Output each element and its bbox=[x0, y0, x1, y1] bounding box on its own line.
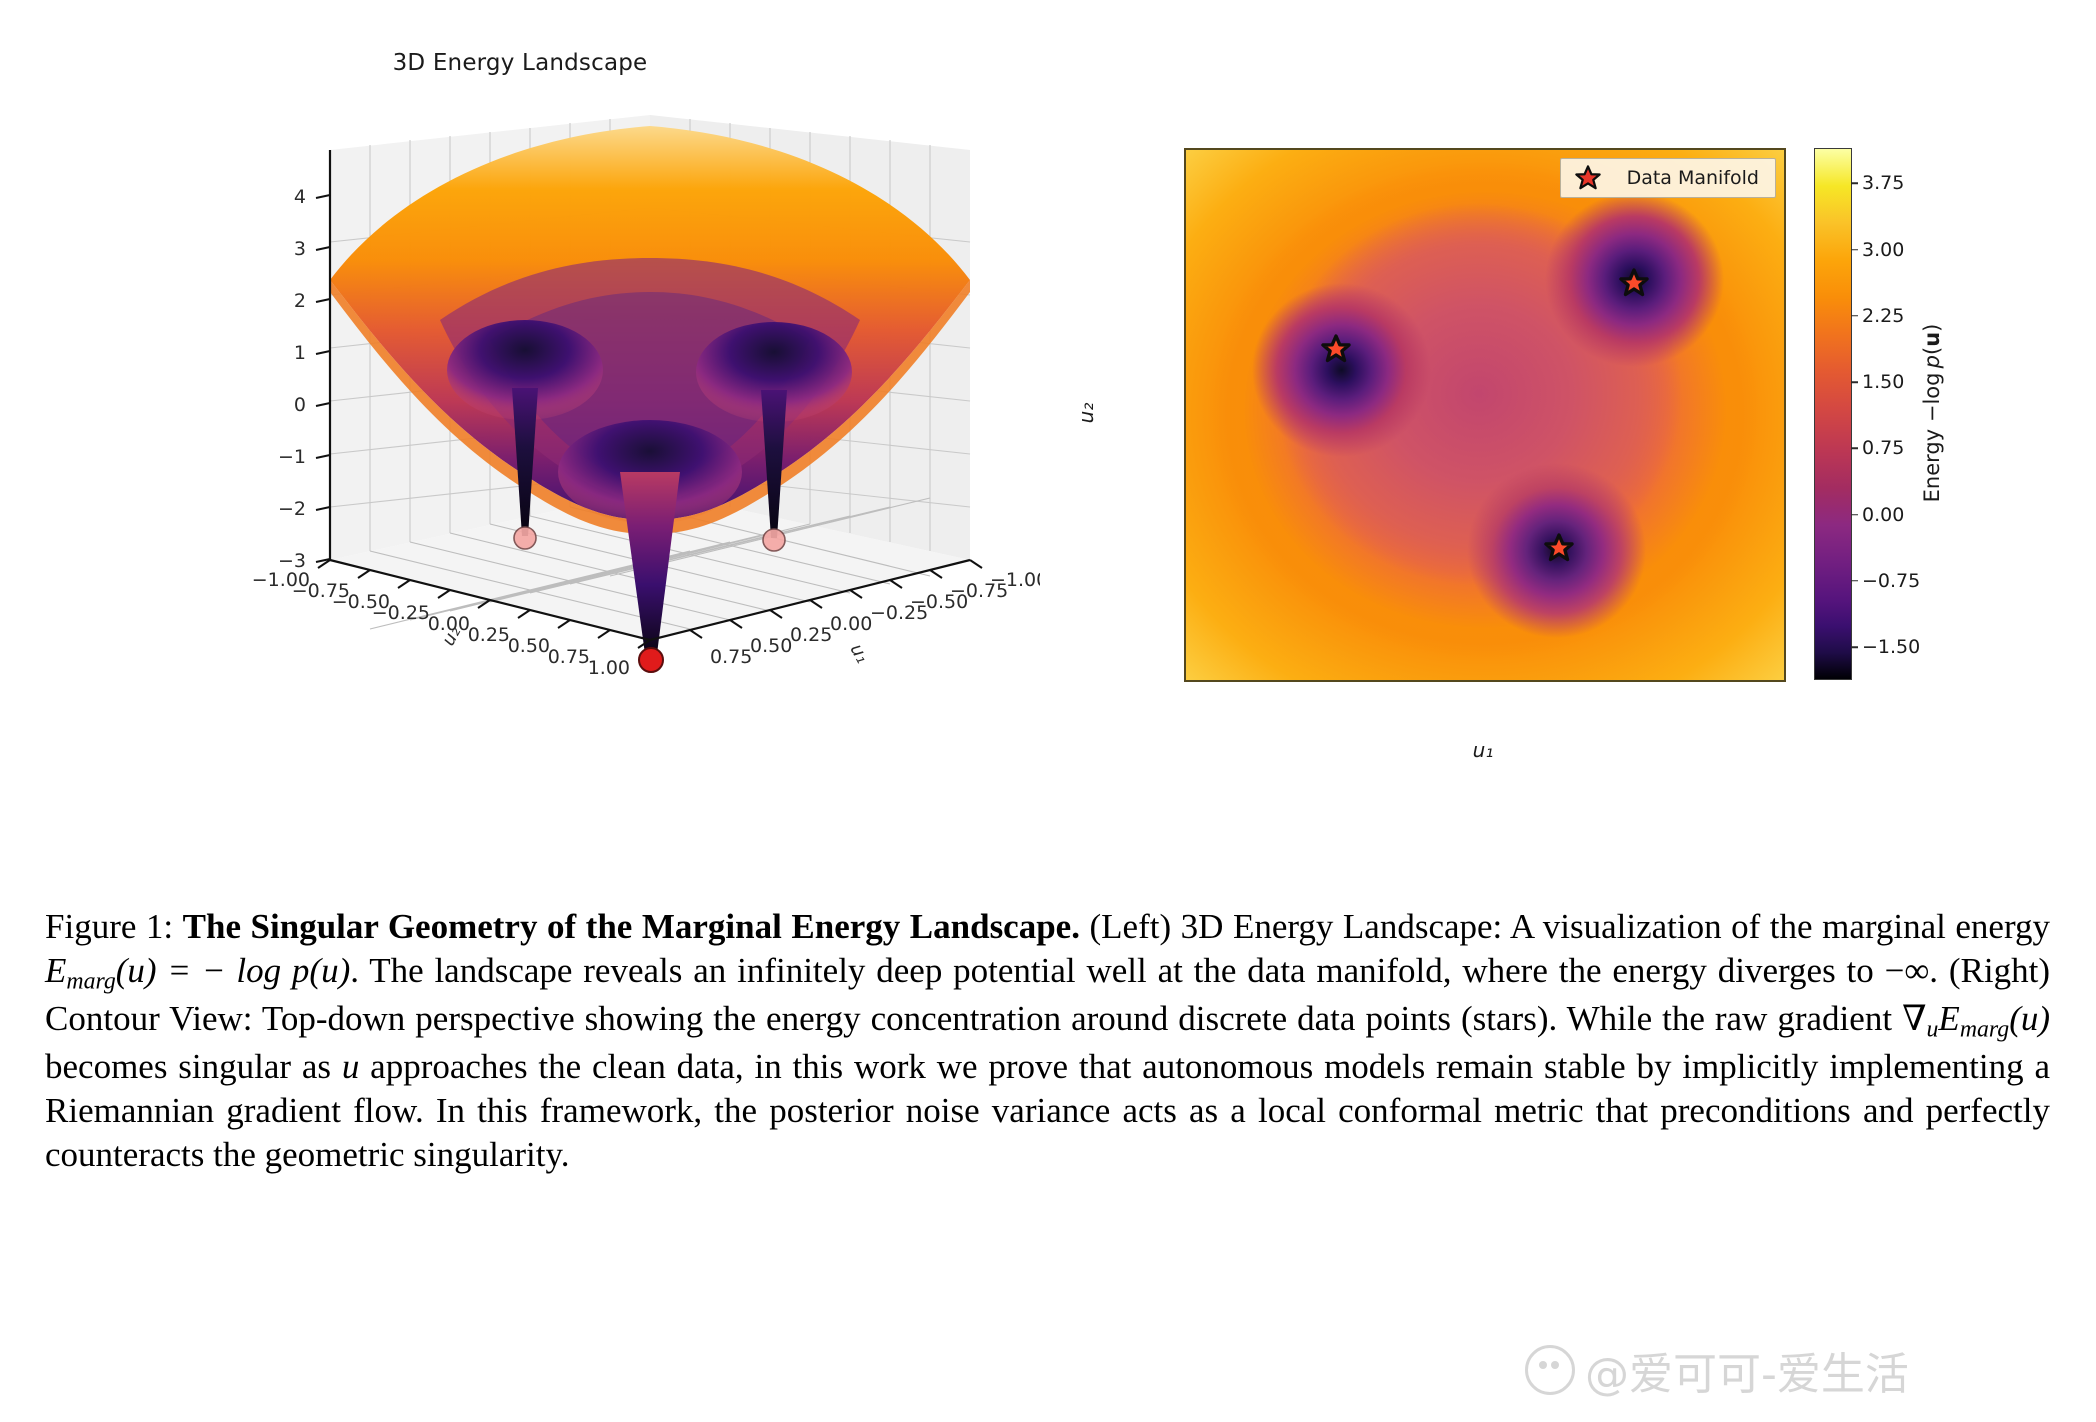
colorbar-tick-1: 3.00 bbox=[1862, 239, 1904, 261]
figure-caption: Figure 1: The Singular Geometry of the M… bbox=[45, 905, 2050, 1178]
caption-formula-E2-sub: marg bbox=[1960, 1017, 2009, 1043]
z-tick-6: −2 bbox=[278, 498, 306, 520]
u2-tick-6: 0.50 bbox=[508, 635, 550, 657]
figure-area: 3D Energy Landscape bbox=[0, 0, 2096, 900]
star-marker-3 bbox=[1546, 535, 1572, 560]
caption-formula-grad: ∇ bbox=[1902, 999, 1926, 1038]
u1-tick-6: 0.50 bbox=[750, 635, 792, 657]
z-axis: 4 3 2 1 0 −1 −2 −3 bbox=[278, 150, 330, 572]
z-tick-1: 3 bbox=[294, 238, 306, 260]
z-tick-0: 4 bbox=[294, 186, 306, 208]
colorbar-tick-3: 1.50 bbox=[1862, 371, 1904, 393]
caption-formula-u: u bbox=[342, 1047, 360, 1086]
colorbar-label: Energy −log p(u) bbox=[1920, 324, 1944, 503]
star-marker-2 bbox=[1621, 270, 1647, 295]
colorbar-tick-0: 3.75 bbox=[1862, 172, 1904, 194]
colorbar: 3.75 3.00 2.25 1.50 0.75 0.00 −0.75 −1.5… bbox=[1814, 148, 1852, 680]
caption-formula-E2: E bbox=[1938, 999, 1959, 1038]
watermark-text: @爱可可-爱生活 bbox=[1585, 1338, 1909, 1402]
colorbar-tick-5: 0.00 bbox=[1862, 504, 1904, 526]
caption-part1-lead: (Left) 3D Energy Landscape: A visualizat… bbox=[1090, 907, 2050, 946]
u2-tick-5: 0.25 bbox=[468, 624, 510, 646]
colorbar-label-text: Energy −log p(u) bbox=[1920, 324, 1944, 503]
u1-tick-7: 0.75 bbox=[710, 646, 752, 668]
colorbar-tick-2: 2.25 bbox=[1862, 305, 1904, 327]
caption-formula-E2-rest: (u) bbox=[2009, 999, 2050, 1038]
z-tick-3: 1 bbox=[294, 342, 306, 364]
star-marker-1 bbox=[1323, 336, 1349, 361]
caption-part1-tail: . The landscape reveals an infinitely de… bbox=[350, 951, 1949, 990]
legend[interactable]: Data Manifold bbox=[1560, 158, 1776, 198]
z-tick-4: 0 bbox=[294, 394, 306, 416]
u1-tick-4: 0.00 bbox=[830, 613, 872, 635]
legend-label: Data Manifold bbox=[1627, 167, 1759, 189]
u2-tick-3: −0.25 bbox=[372, 602, 430, 624]
contour-plot[interactable]: Data Manifold 1.00 0.75 0.50 0.25 0.00 −… bbox=[1184, 148, 1786, 682]
caption-formula-E1: E bbox=[45, 951, 66, 990]
caption-formula-E1-rest: (u) = − log p(u) bbox=[116, 951, 350, 990]
contour-xaxis-label: u₁ bbox=[1184, 738, 1782, 762]
contour-yaxis-label: u₂ bbox=[1074, 403, 1098, 424]
colorbar-tick-4: 0.75 bbox=[1862, 437, 1904, 459]
data-manifold-stars bbox=[1186, 150, 1784, 680]
u1-tick-5: 0.25 bbox=[790, 624, 832, 646]
u1-tick-3: −0.25 bbox=[870, 602, 928, 624]
caption-bold-title: The Singular Geometry of the Marginal En… bbox=[183, 907, 1080, 946]
legend-star-icon bbox=[1575, 165, 1601, 191]
u2-tick-8: 1.00 bbox=[588, 657, 630, 679]
z-tick-5: −1 bbox=[278, 446, 306, 468]
z-tick-2: 2 bbox=[294, 290, 306, 312]
weibo-watermark: @爱可可-爱生活 bbox=[1525, 1338, 1909, 1402]
colorbar-tick-7: −1.50 bbox=[1862, 636, 1920, 658]
caption-part2-mid: becomes singular as bbox=[45, 1047, 342, 1086]
panel-3d-energy-landscape: 3D Energy Landscape bbox=[60, 20, 1040, 890]
caption-figure-number: Figure 1: bbox=[45, 907, 173, 946]
plot-3d-svg: 4 3 2 1 0 −1 −2 −3 bbox=[60, 20, 1040, 890]
caption-formula-grad-sub: u bbox=[1927, 1017, 1939, 1043]
u1-axis-label: u₁ bbox=[846, 640, 873, 666]
weibo-logo-icon bbox=[1525, 1345, 1575, 1395]
colorbar-tick-6: −0.75 bbox=[1862, 570, 1920, 592]
caption-formula-E1-sub: marg bbox=[66, 969, 115, 995]
u2-tick-7: 0.75 bbox=[548, 646, 590, 668]
panel-contour-view: Data Manifold 1.00 0.75 0.50 0.25 0.00 −… bbox=[1090, 110, 2050, 810]
